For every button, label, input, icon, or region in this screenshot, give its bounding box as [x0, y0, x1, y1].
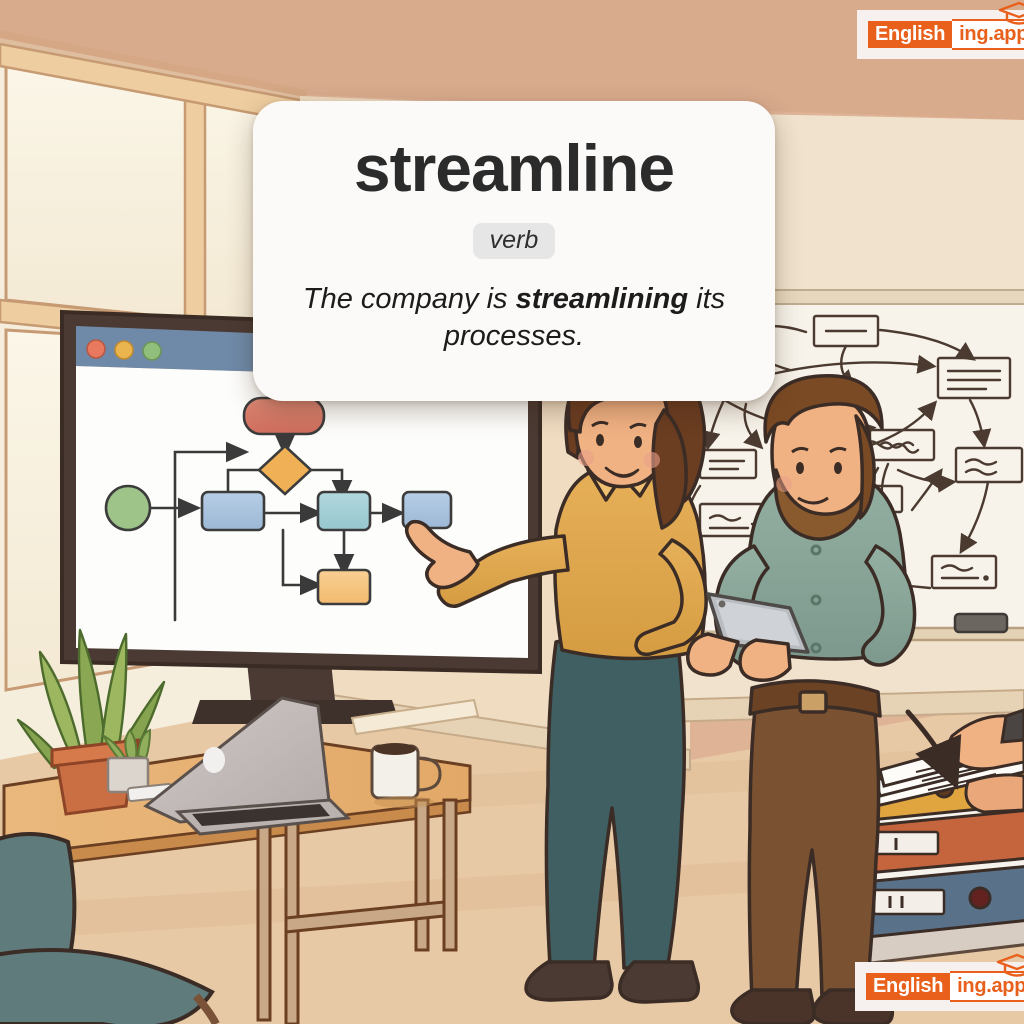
example-sentence: The company is streamlining its processe…: [284, 281, 744, 355]
vocabulary-card: streamline verb The company is streamlin…: [253, 101, 775, 401]
woman-presenter: [407, 346, 706, 1002]
watermark-bottom-right[interactable]: English ing.app: [855, 962, 1024, 1011]
part-of-speech-badge: verb: [473, 223, 556, 259]
graduation-cap-icon: [995, 952, 1024, 978]
vocabulary-illustration-scene: streamline verb The company is streamlin…: [0, 0, 1024, 1024]
example-bold-word: streamlining: [516, 283, 688, 315]
graduation-cap-icon: [997, 0, 1024, 26]
watermark-part-a: English: [868, 21, 952, 48]
example-prefix: The company is: [303, 283, 516, 315]
watermark-part-a: English: [866, 973, 950, 1000]
word-headline: streamline: [354, 135, 674, 201]
watermark-top-right[interactable]: English ing.app: [857, 10, 1024, 59]
man-with-tablet: [688, 376, 915, 1024]
